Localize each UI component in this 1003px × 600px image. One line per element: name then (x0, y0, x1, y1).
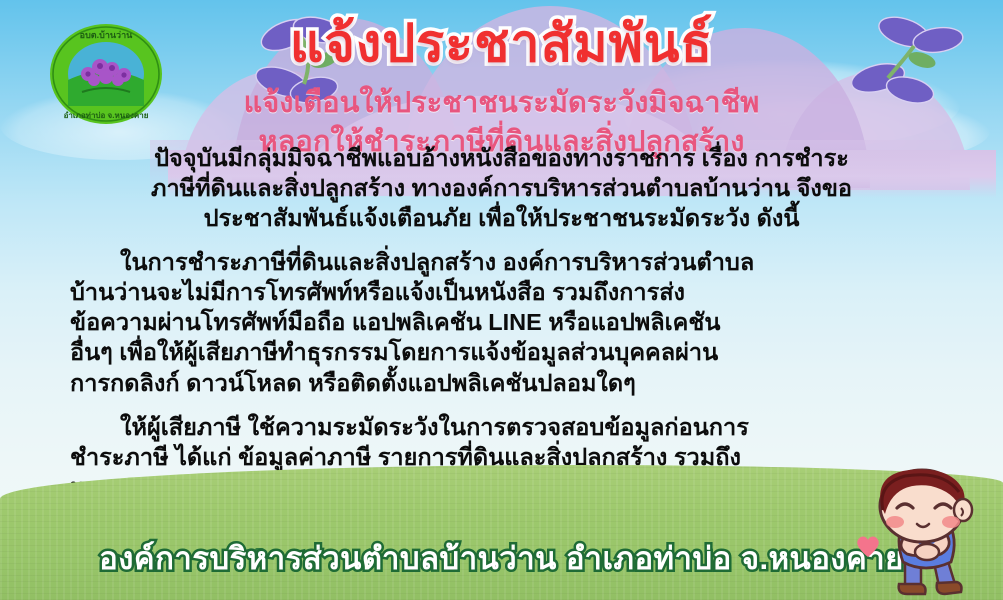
body-line: ปัจจุบันมีกลุ่มมิจฉาชีพแอบอ้างหนังสือของ… (28, 143, 975, 173)
body-line: การกดลิงก์ ดาวน์โหลด หรือติดตั้งแอปพลิเค… (70, 368, 975, 398)
body-line-text: ในการชำระภาษีที่ดินและสิ่งปลูกสร้าง องค์… (120, 249, 754, 275)
body-line: ในการชำระภาษีที่ดินและสิ่งปลูกสร้าง องค์… (70, 247, 975, 277)
announcement-poster: อบต.บ้านว่าน อำเภอท่าบ่อ จ.หนองคาย แจ้งป… (0, 0, 1003, 600)
body-line: ประชาสัมพันธ์แจ้งเตือนภัย เพื่อให้ประชาช… (28, 203, 975, 233)
body-line: บ้านว่านจะไม่มีการโทรศัพท์หรือแจ้งเป็นหน… (70, 277, 975, 307)
poster-title: แจ้งประชาสัมพันธ์ (0, 17, 1003, 72)
paragraph-1: ปัจจุบันมีกลุ่มมิจฉาชีพแอบอ้างหนังสือของ… (28, 143, 975, 233)
subtitle-line-1: แจ้งเตือนให้ประชาชนระมัดระวังมิจฉาชีพ (0, 84, 1003, 123)
body-line: อื่นๆ เพื่อให้ผู้เสียภาษีทำธุรกรรมโดยการ… (70, 337, 975, 367)
body-line: ให้ผู้เสียภาษี ใช้ความระมัดระวังในการตรว… (70, 412, 975, 442)
bowing-boy-illustration (847, 466, 997, 598)
paragraph-2: ในการชำระภาษีที่ดินและสิ่งปลูกสร้าง องค์… (28, 247, 975, 397)
body-line: ข้อความผ่านโทรศัพท์มือถือ แอปพลิเคชัน LI… (70, 307, 975, 337)
body-line-text: ให้ผู้เสียภาษี ใช้ความระมัดระวังในการตรว… (120, 414, 749, 440)
body-line: ภาษีที่ดินและสิ่งปลูกสร้าง ทางองค์การบริ… (28, 173, 975, 203)
